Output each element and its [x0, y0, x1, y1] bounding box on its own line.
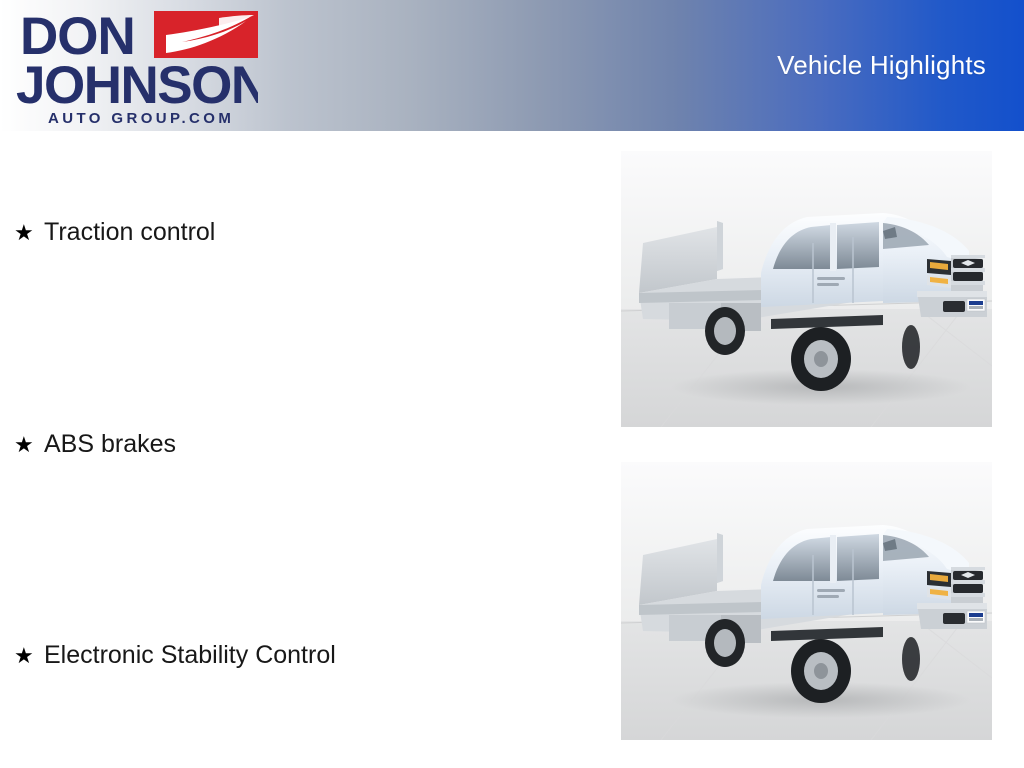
feature-list: ★ Traction control ★ ABS brakes ★ Electr… [0, 131, 600, 768]
page-title: Vehicle Highlights [777, 50, 986, 81]
svg-text:AUTO GROUP.COM: AUTO GROUP.COM [48, 110, 234, 127]
star-icon: ★ [14, 434, 44, 456]
list-item: ★ ABS brakes [14, 431, 176, 459]
star-icon: ★ [14, 645, 44, 667]
star-icon: ★ [14, 222, 44, 244]
list-item: ★ Electronic Stability Control [14, 642, 336, 670]
feature-label: Traction control [44, 219, 215, 247]
vehicle-photo[interactable] [621, 462, 992, 740]
svg-text:JOHNSON: JOHNSON [16, 56, 258, 115]
page-header: DON JOHNSON AUTO GROUP.COM Vehicle Highl… [0, 0, 1024, 131]
vehicle-highlights-page: DON JOHNSON AUTO GROUP.COM Vehicle Highl… [0, 0, 1024, 768]
list-item: ★ Traction control [14, 219, 215, 247]
dealer-logo[interactable]: DON JOHNSON AUTO GROUP.COM [14, 6, 258, 128]
feature-label: ABS brakes [44, 431, 176, 459]
vehicle-photo[interactable] [621, 151, 992, 427]
feature-label: Electronic Stability Control [44, 642, 336, 670]
